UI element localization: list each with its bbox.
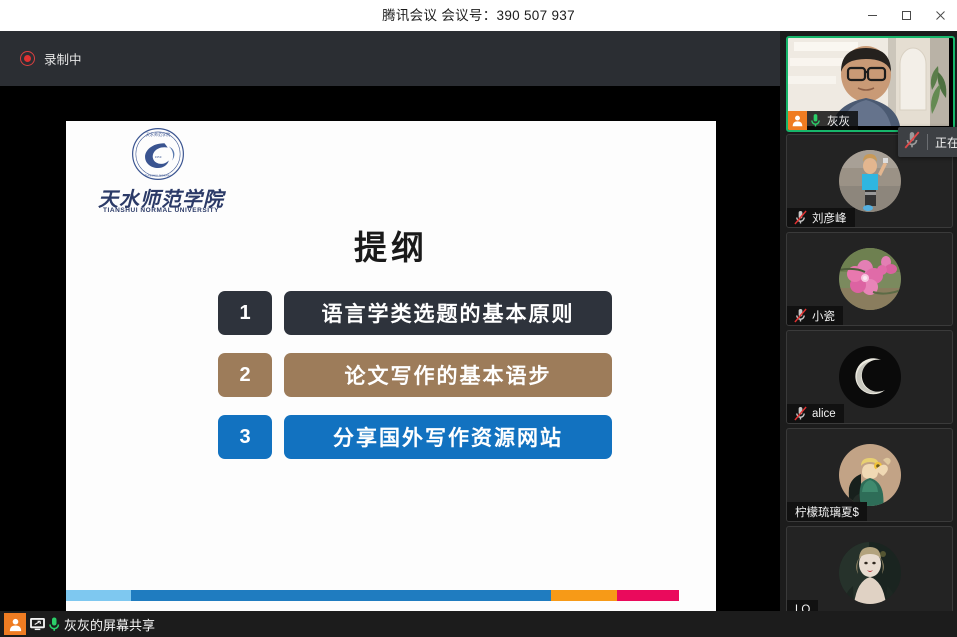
participant-rail[interactable]: 灰灰	[780, 31, 957, 637]
pink-flower-photo-icon	[839, 248, 901, 310]
outline-text-1: 语言学类选题的基本原则	[284, 291, 612, 335]
outline-text-3: 分享国外写作资源网站	[284, 415, 612, 459]
tooltip-text: 正在讲	[935, 134, 957, 151]
avatar	[839, 248, 901, 310]
university-logo: 1959 天水师范学院 TIANSHUI NORMAL 天水师范学院 TIANS…	[86, 127, 236, 227]
mic-on-icon	[48, 616, 60, 632]
screen-share-bar: 灰灰的屏幕共享	[0, 611, 780, 637]
participant-footer-1: 灰灰	[788, 111, 858, 130]
minimize-icon	[867, 10, 878, 21]
title-bar: 腾讯会议 会议号：390 507 937	[0, 0, 957, 32]
participant-footer-3: 小瓷	[787, 306, 843, 325]
footer-segment-4	[617, 590, 679, 601]
portrait-photo-icon	[839, 542, 901, 604]
avatar	[839, 346, 901, 408]
host-icon	[788, 111, 807, 130]
maximize-icon	[901, 10, 912, 21]
crescent-moon-photo-icon	[839, 346, 901, 408]
avatar	[839, 444, 901, 506]
minimize-button[interactable]	[855, 0, 889, 31]
stage-top-bar: 录制中	[0, 31, 780, 86]
outline-text-2: 论文写作的基本语步	[284, 353, 612, 397]
participant-name-2: 刘彦峰	[809, 210, 847, 226]
presentation-slide: 1959 天水师范学院 TIANSHUI NORMAL 天水师范学院 TIANS…	[66, 121, 716, 611]
participant-tile-4[interactable]: alice	[786, 330, 953, 424]
participant-name-1: 灰灰	[824, 113, 850, 129]
mic-muted-icon	[792, 208, 809, 227]
participant-footer-2: 刘彦峰	[787, 208, 855, 227]
illustration-woman-icon	[839, 444, 901, 506]
microphone-muted-icon	[794, 406, 807, 421]
outline-list: 1 语言学类选题的基本原则 2 论文写作的基本语步 3 分享国外写作资源网站	[218, 291, 598, 477]
maximize-button[interactable]	[889, 0, 923, 31]
footer-segment-2	[131, 590, 551, 601]
share-label: 灰灰的屏幕共享	[64, 615, 155, 634]
mic-muted-icon	[792, 306, 809, 325]
university-emblem-icon: 1959 天水师范学院 TIANSHUI NORMAL	[131, 127, 185, 181]
participant-tile-5[interactable]: 柠檬琉璃夏$	[786, 428, 953, 522]
window-controls	[855, 0, 957, 31]
record-dot-icon	[20, 51, 35, 66]
host-icon	[4, 613, 26, 635]
outline-item-3: 3 分享国外写作资源网站	[218, 415, 598, 459]
svg-text:天水师范学院: 天水师范学院	[146, 131, 170, 137]
avatar	[839, 542, 901, 604]
footer-segment-3	[551, 590, 617, 601]
host-person-icon	[791, 114, 804, 127]
outline-number-1: 1	[218, 291, 272, 335]
recording-indicator: 录制中	[20, 49, 82, 68]
svg-text:TIANSHUI NORMAL: TIANSHUI NORMAL	[145, 174, 172, 178]
window-title: 腾讯会议 会议号：390 507 937	[0, 0, 957, 31]
participant-name-5: 柠檬琉璃夏$	[787, 504, 859, 520]
footer-segment-1	[66, 590, 131, 601]
share-status-icons	[30, 616, 60, 632]
outline-number-2: 2	[218, 353, 272, 397]
slide-title: 提纲	[66, 221, 716, 269]
microphone-muted-icon	[904, 131, 920, 149]
avatar	[839, 150, 901, 212]
svg-text:1959: 1959	[155, 155, 162, 159]
shared-screen-stage[interactable]: 录制中 1959 天水师范学院 TIANSHUI NORMAL 天水师范学院 T…	[0, 31, 780, 611]
participant-tile-3[interactable]: 小瓷	[786, 232, 953, 326]
tencent-meeting-window: 腾讯会议 会议号：390 507 937	[0, 0, 957, 637]
outline-item-2: 2 论文写作的基本语步	[218, 353, 598, 397]
rail-bottom-filler	[780, 611, 957, 637]
tooltip-divider	[927, 134, 928, 150]
participant-name-3: 小瓷	[809, 308, 835, 324]
university-name-en: TIANSHUI NORMAL UNIVERSITY	[86, 207, 236, 214]
close-button[interactable]	[923, 0, 957, 31]
recording-label: 录制中	[44, 49, 82, 68]
microphone-icon	[810, 113, 821, 128]
microphone-muted-icon	[794, 308, 807, 323]
microphone-muted-icon	[794, 210, 807, 225]
participant-name-4: alice	[809, 408, 836, 420]
slide-footer-colorbar	[66, 590, 716, 601]
mic-muted-icon	[792, 404, 809, 423]
mic-on-icon	[807, 111, 824, 130]
mic-muted-icon	[904, 131, 920, 154]
child-photo-icon	[839, 150, 901, 212]
screen-share-icon	[30, 618, 45, 631]
outline-number-3: 3	[218, 415, 272, 459]
participant-footer-4: alice	[787, 404, 844, 423]
outline-item-1: 1 语言学类选题的基本原则	[218, 291, 598, 335]
host-person-icon	[8, 617, 23, 632]
participant-tile-6[interactable]: LQ	[786, 526, 953, 620]
close-icon	[935, 10, 946, 21]
participant-footer-5: 柠檬琉璃夏$	[787, 502, 867, 521]
speaking-tooltip: 正在讲	[898, 127, 957, 157]
participant-tile-1[interactable]: 灰灰	[786, 36, 955, 132]
